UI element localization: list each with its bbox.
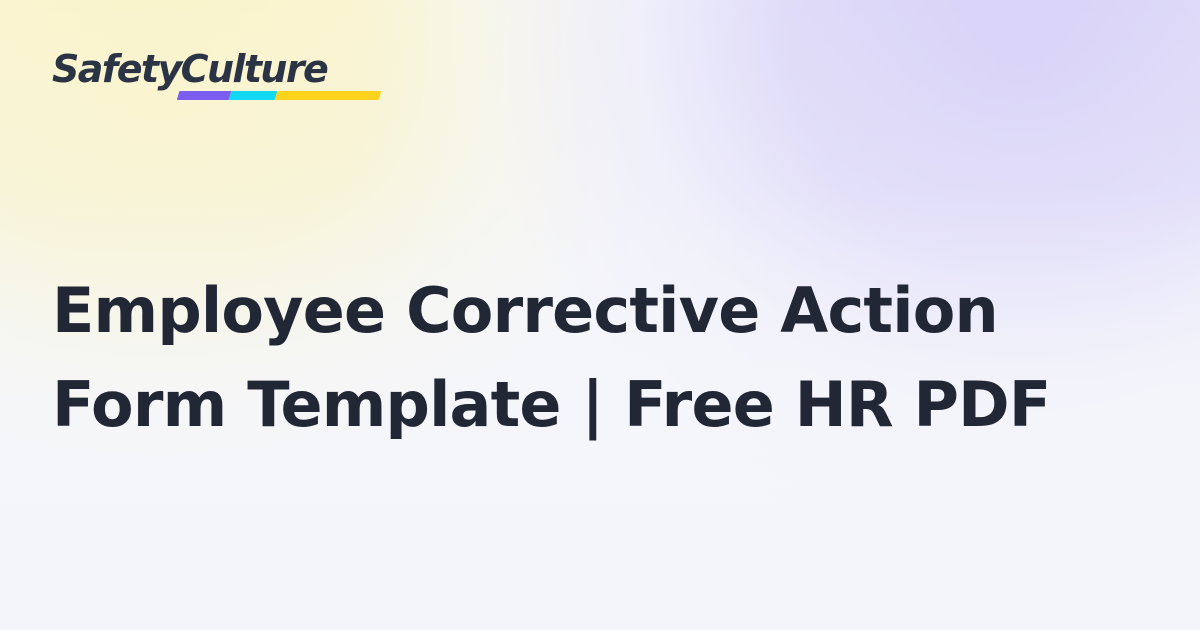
logo-underline-purple-segment (177, 91, 232, 100)
logo-underline-cyan-segment (229, 91, 278, 100)
logo-underline-bar (177, 91, 382, 100)
page-title: Employee Corrective Action Form Template… (52, 264, 1152, 452)
og-share-card: SafetyCulture Employee Corrective Action… (0, 0, 1200, 630)
page-title-line-2: Form Template | Free HR PDF (52, 358, 1152, 452)
logo-underline-yellow-segment (275, 91, 382, 100)
logo-wordmark: SafetyCulture (52, 50, 352, 88)
page-title-line-1: Employee Corrective Action (52, 264, 1152, 358)
safetyculture-logo: SafetyCulture (52, 50, 352, 106)
